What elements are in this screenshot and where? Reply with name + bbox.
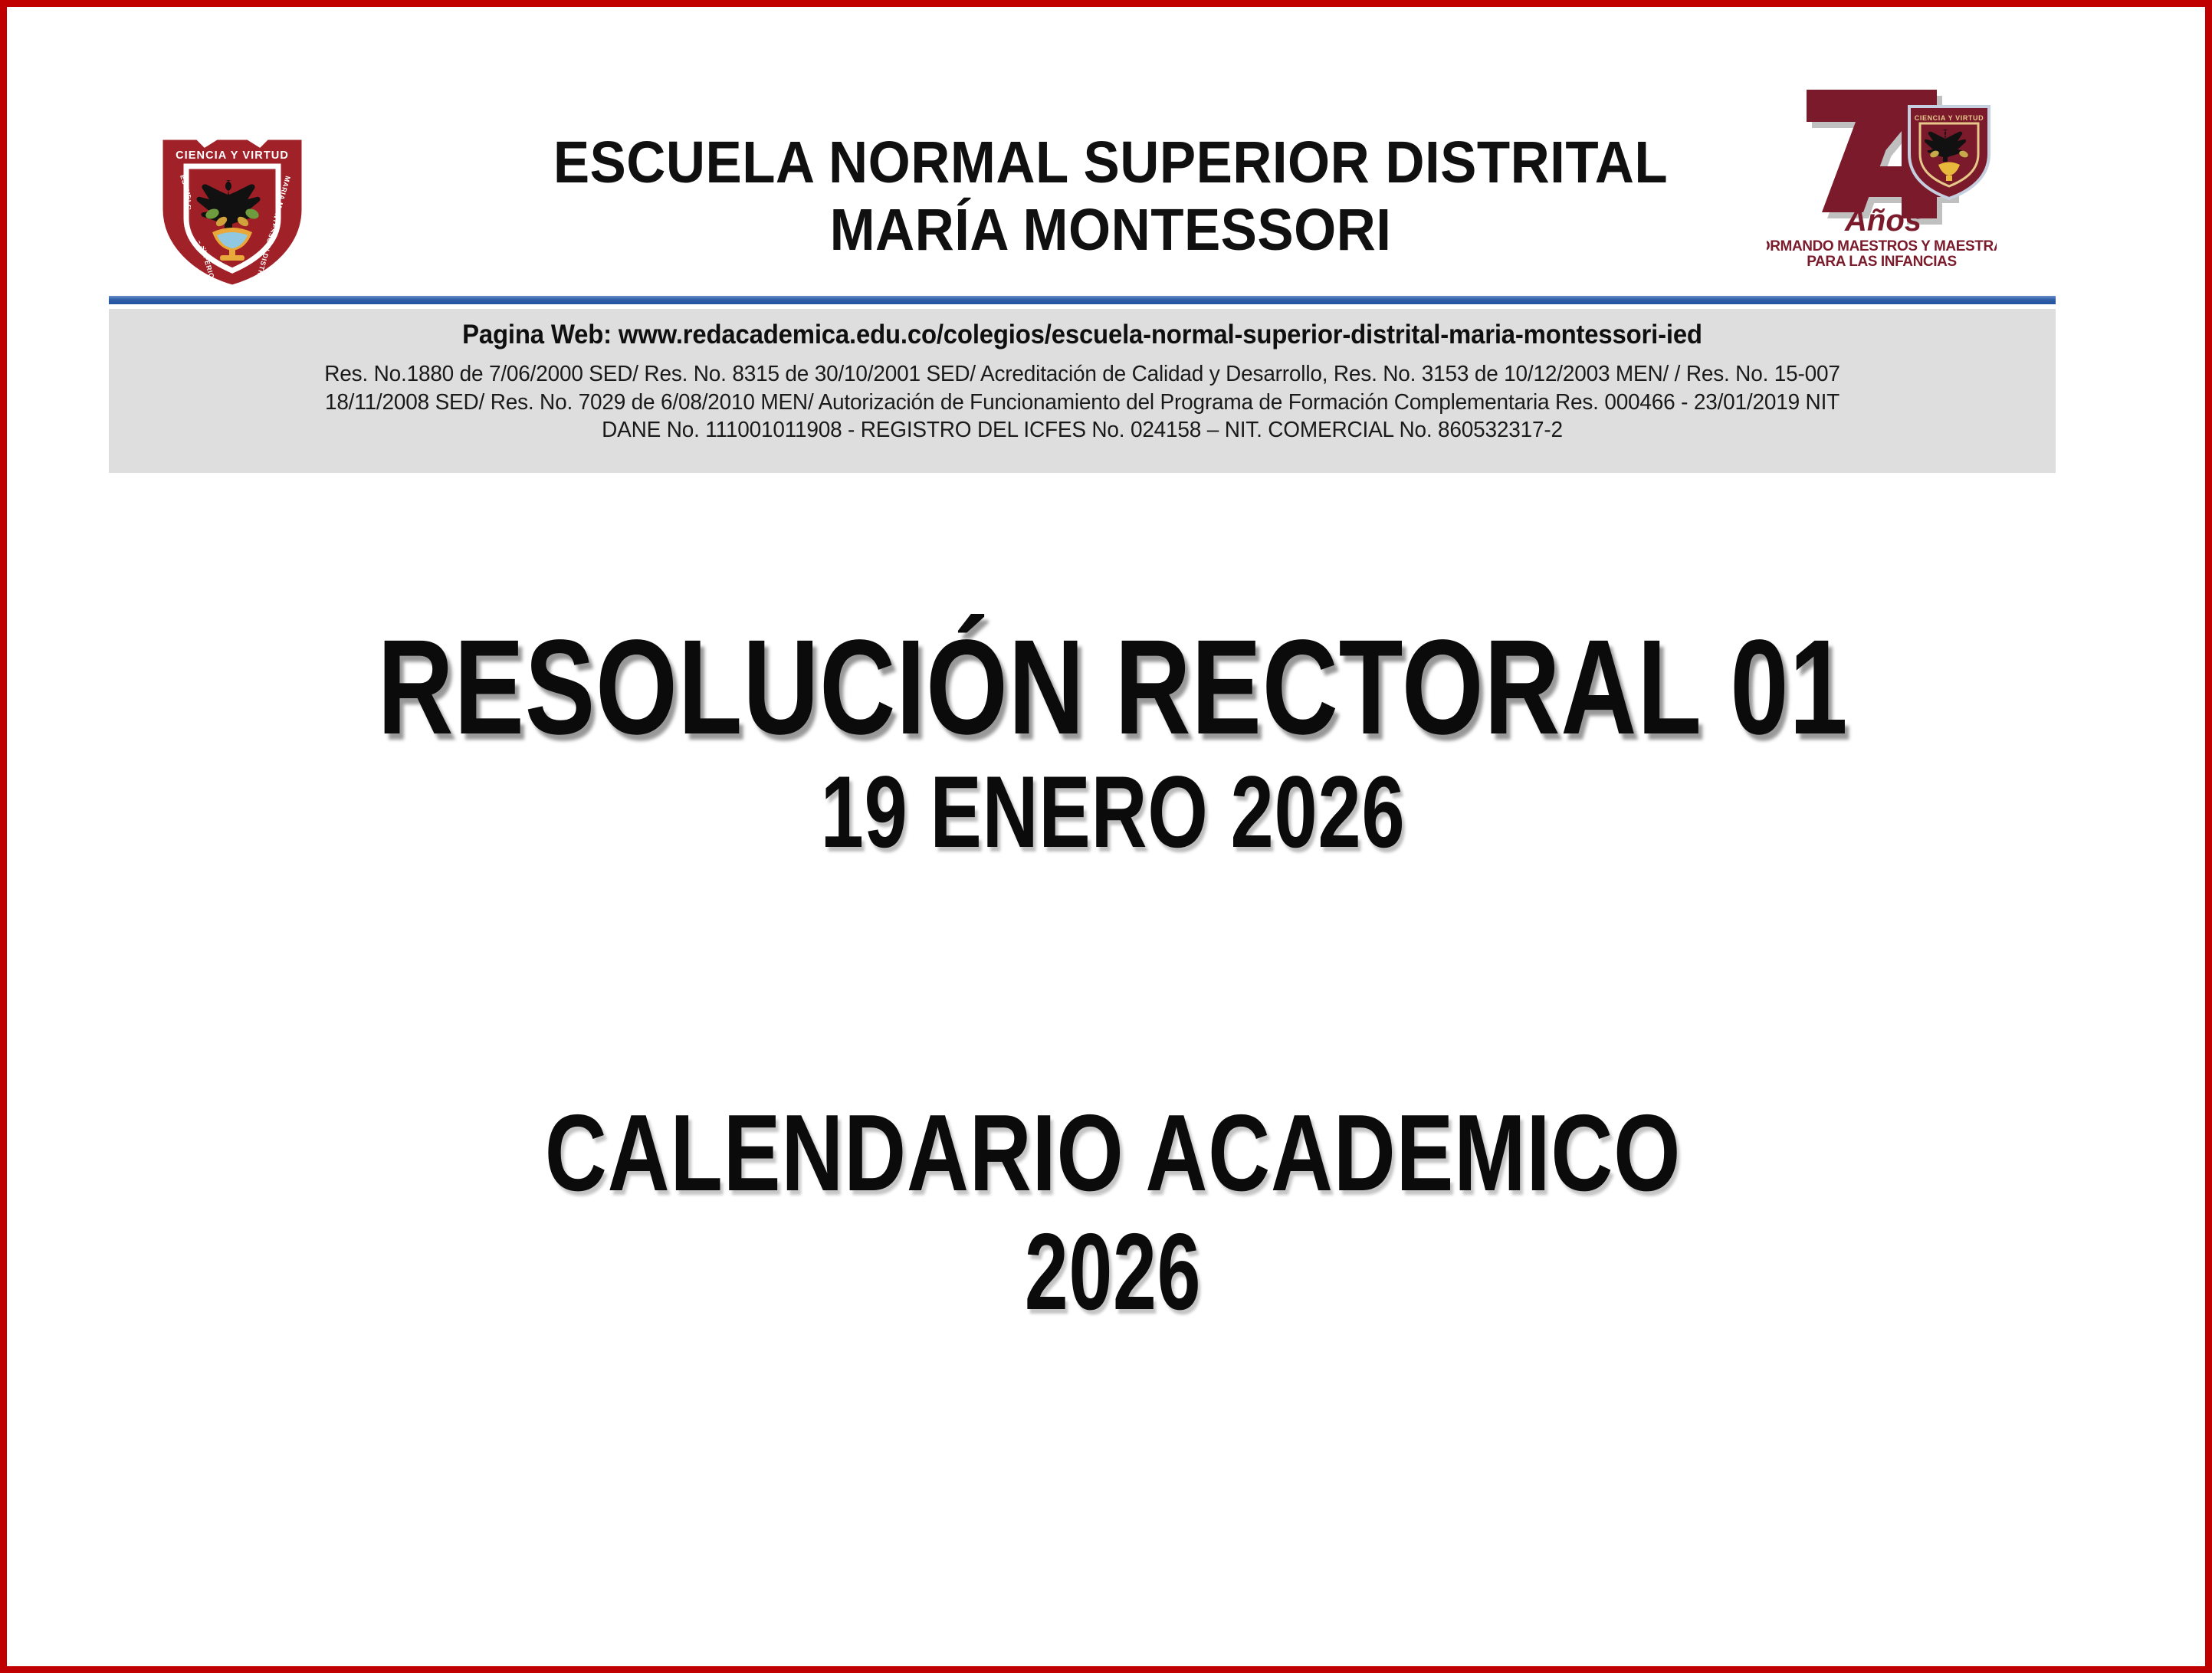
legal-accreditation-text: Res. No.1880 de 7/06/2000 SED/ Res. No. … — [143, 360, 2021, 445]
svg-text:CIENCIA Y VIRTUD: CIENCIA Y VIRTUD — [1915, 114, 1984, 122]
anniversary-tagline-line1: FORMANDO MAESTROS Y MAESTRAS — [1767, 238, 1997, 254]
document-year: 2026 — [317, 1218, 1909, 1327]
school-name-line2: MARÍA MONTESSORI — [490, 197, 1731, 264]
school-name-line1: ESCUELA NORMAL SUPERIOR DISTRITAL — [553, 130, 1668, 195]
legal-line-2: 18/11/2008 SED/ Res. No. 7029 de 6/08/20… — [143, 389, 2021, 417]
document-page: CIENCIA Y VIRTUD ESCUELA NORMAL SUPERIOR… — [0, 0, 2212, 1673]
letterhead-info-box: Pagina Web: www.redacademica.edu.co/cole… — [109, 309, 2056, 473]
school-crest-shield-icon: CIENCIA Y VIRTUD ESCUELA NORMAL SUPERIOR… — [157, 136, 307, 289]
anniversary-tagline-line2: PARA LAS INFANCIAS — [1807, 254, 1956, 269]
resolution-date: 19 ENERO 2026 — [272, 762, 1953, 864]
resolution-title: RESOLUCIÓN RECTORAL 01 — [250, 620, 1975, 755]
svg-text:CIENCIA Y VIRTUD: CIENCIA Y VIRTUD — [176, 149, 289, 162]
header-divider — [109, 296, 2056, 304]
website-line: Pagina Web: www.redacademica.edu.co/cole… — [167, 320, 1997, 350]
legal-line-3: DANE No. 111001011908 - REGISTRO DEL ICF… — [143, 416, 2021, 445]
letterhead: CIENCIA Y VIRTUD ESCUELA NORMAL SUPERIOR… — [7, 7, 2212, 497]
anniversary-years-word: Años — [1844, 204, 1922, 238]
legal-line-1: Res. No.1880 de 7/06/2000 SED/ Res. No. … — [143, 360, 2021, 389]
school-name-heading: ESCUELA NORMAL SUPERIOR DISTRITAL MARÍA … — [490, 130, 1731, 264]
document-title: CALENDARIO ACADEMICO — [239, 1099, 1987, 1208]
anniversary-74-years-logo-icon: CIENCIA Y VIRTUD Años FORMANDO MAESTROS … — [1767, 68, 1997, 269]
